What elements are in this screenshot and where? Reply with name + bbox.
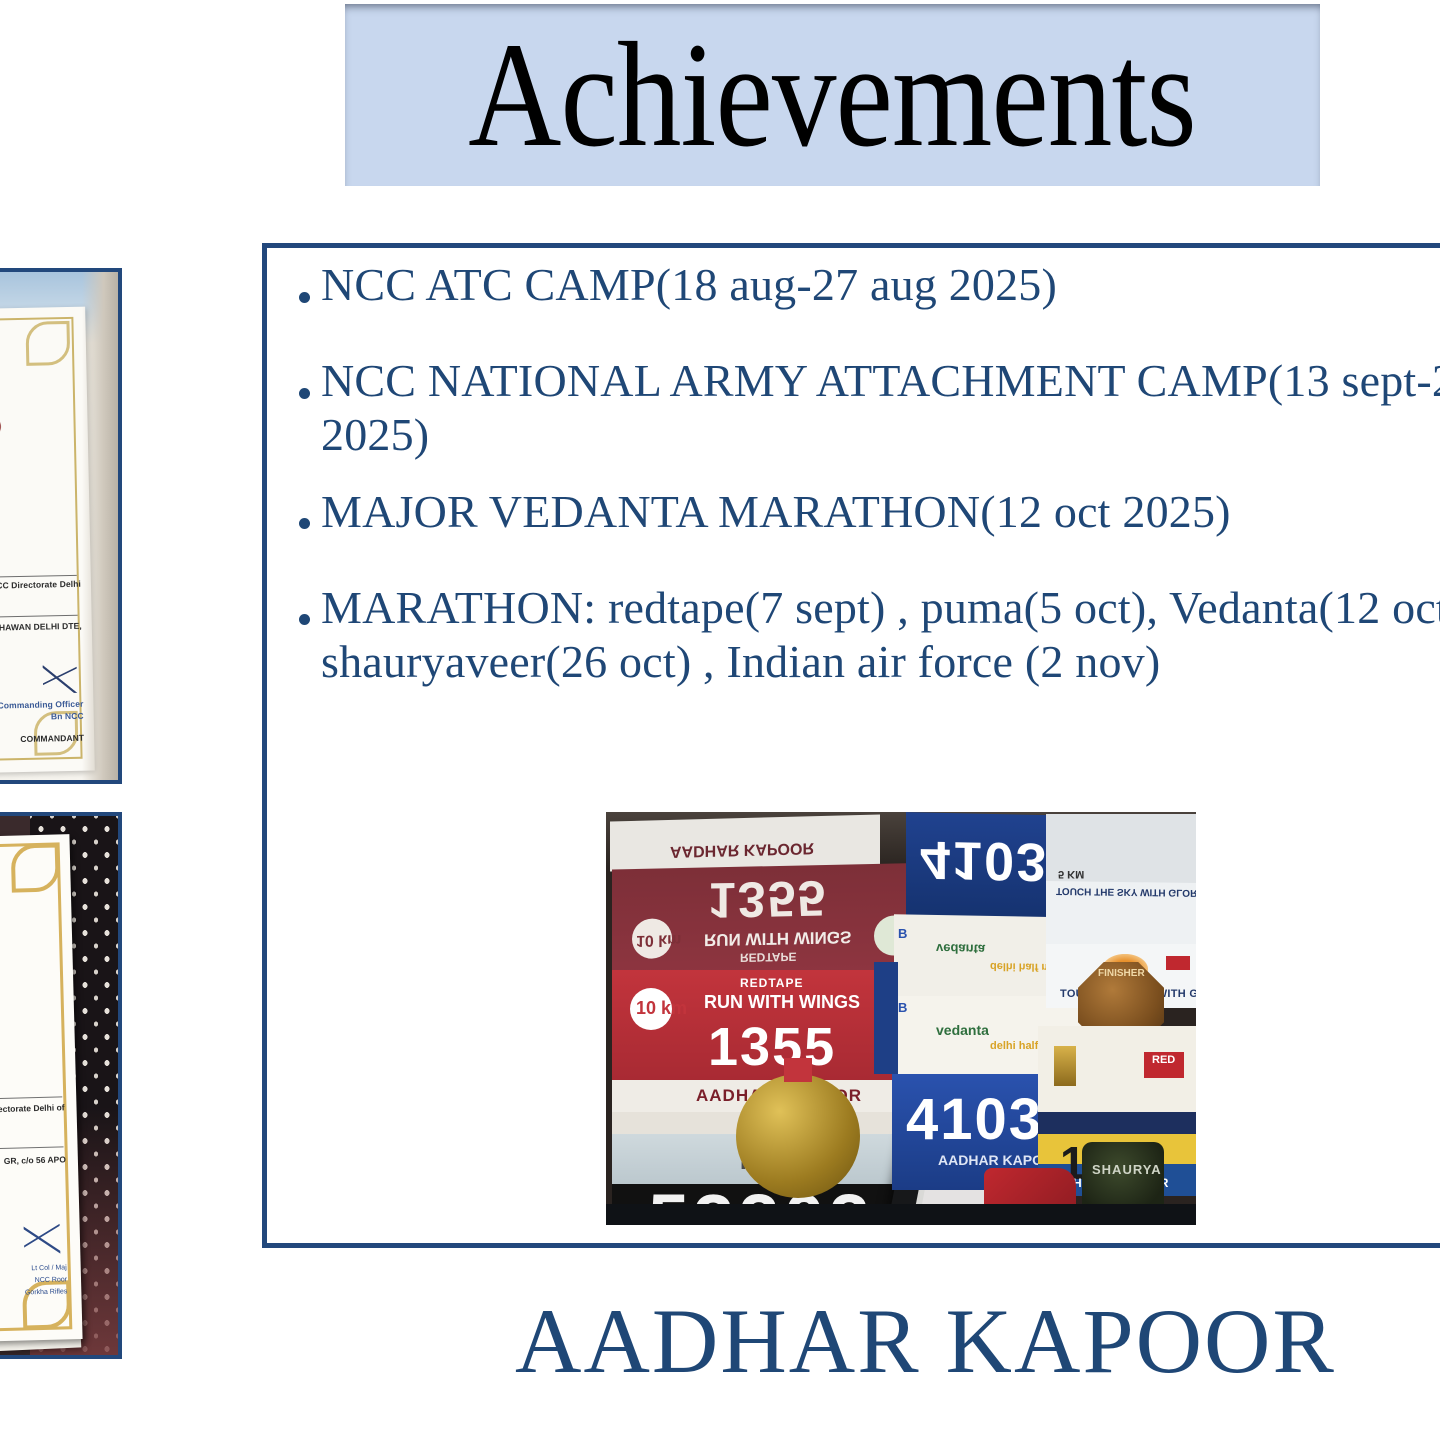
airforce-slogan-reflection: TOUCH THE SKY WITH GLORY [1056,885,1196,898]
achievement-text-4: MARATHON: redtape(7 sept) , puma(5 oct),… [321,581,1440,690]
bib-letter-b: B [898,1000,907,1015]
list-item: MARATHON: redtape(7 sept) , puma(5 oct),… [287,581,1440,690]
red-sponsor-label: RED [1152,1054,1175,1066]
distance-label-reflection: 5 KM [1058,868,1084,880]
certificate-sheet-front: Directorate Delhi of GR, c/o 56 APO Lt C… [0,834,83,1343]
page-title: Achievements [469,20,1197,170]
achievement-text-1: NCC ATC CAMP(18 aug-27 aug 2025) [321,258,1057,312]
bib-event-label: RUN WITH WINGS [704,992,860,1013]
bullet-dot-icon [287,485,321,559]
shauryaveer-bib-top: RED [1038,1026,1196,1120]
bib-number-reflection: 1355 [708,869,827,929]
bib-label-reflection: RUN WITH WINGS [704,926,851,949]
certificate-1-line-1: NCC Directorate Delhi [0,579,81,591]
list-item: MAJOR VEDANTA MARATHON(12 oct 2025) [287,485,1440,559]
certificate-1-edge-shadow [82,272,118,780]
bib-brand-reflection: REDTAPE [740,950,796,965]
open10k-tab: OPEN 10K [874,962,898,1074]
certificate-1-line-4: Bn NCC [51,711,84,722]
certificate-1-gold-border [0,317,83,761]
medal-ribbon [784,1058,812,1082]
shauryaveer-medal-label: SHAURYA VEER [1092,1162,1164,1177]
open10k-label: OPEN 10K [874,985,877,1039]
certificate-photo-2: Directorate Delhi of GR, c/o 56 APO Lt C… [0,812,122,1359]
presenter-name: AADHAR KAPOOR [515,1295,1336,1387]
bib-brand-label: REDTAPE [740,976,803,990]
vedanta-logo-label: vedanta [936,941,985,957]
trophy-icon [1054,1046,1076,1086]
gold-corner-ornament-icon [25,321,70,366]
airforce-bib-reflection: TOUCH THE SKY WITH GLORY [1046,881,1196,947]
achievements-list: NCC ATC CAMP(18 aug-27 aug 2025) NCC NAT… [287,258,1440,711]
bib-letter-b: B [898,926,907,941]
achievement-text-3: MAJOR VEDANTA MARATHON(12 oct 2025) [321,485,1231,539]
certificate-2-line-3: Lt Col / Maj [31,1264,67,1272]
gold-medal [736,1074,860,1198]
finisher-label: FINISHER [1098,968,1145,979]
certificate-1-line-3: Commanding Officer [0,699,84,711]
certificate-2-line-4: NCC Roor [35,1276,67,1284]
distance-badge-label: 10 km [636,998,687,1019]
slide-canvas: Achievements NCC Directorate Delhi NCC B… [0,0,1440,1440]
certificate-2-gold-border [0,842,72,1332]
certificate-photo-1: NCC Directorate Delhi NCC BHAWAN DELHI D… [0,268,122,784]
certificate-2-line-2: GR, c/o 56 APO [4,1154,66,1166]
list-item: NCC ATC CAMP(18 aug-27 aug 2025) [287,258,1440,332]
bullet-dot-icon [287,258,321,332]
distance-badge-label: 10 km [636,930,681,949]
shelf-bottom [606,1204,1196,1225]
certificate-1-paper: NCC Directorate Delhi NCC BHAWAN DELHI D… [0,307,95,774]
bib-number: 1355 [708,1016,836,1078]
vedanta-logo-label: vedanta [936,1022,989,1038]
medals-and-bibs-photo: AADHAR KAPOOR 1355 RUN WITH WINGS REDTAP… [606,812,1196,1225]
bib-reflection-strip: AADHAR KAPOOR [610,814,880,871]
certificate-2-line-1: Directorate Delhi of [0,1102,65,1114]
signature-icon [24,1224,61,1255]
bullet-dot-icon [287,581,321,655]
certificate-1-line-5: COMMANDANT [20,733,84,744]
list-item: NCC NATIONAL ARMY ATTACHMENT CAMP(13 sep… [287,354,1440,463]
signature-icon [43,665,78,694]
bib-name-reflection: AADHAR KAPOOR [670,838,814,860]
gold-corner-ornament-icon [11,843,60,892]
achievement-text-2: NCC NATIONAL ARMY ATTACHMENT CAMP(13 sep… [321,354,1440,463]
sponsor-badge-icon [1166,956,1190,970]
bullet-dot-icon [287,354,321,428]
certificate-2-line-5: Gorkha Rifles [25,1288,68,1296]
slide-title-box: Achievements [345,4,1320,186]
